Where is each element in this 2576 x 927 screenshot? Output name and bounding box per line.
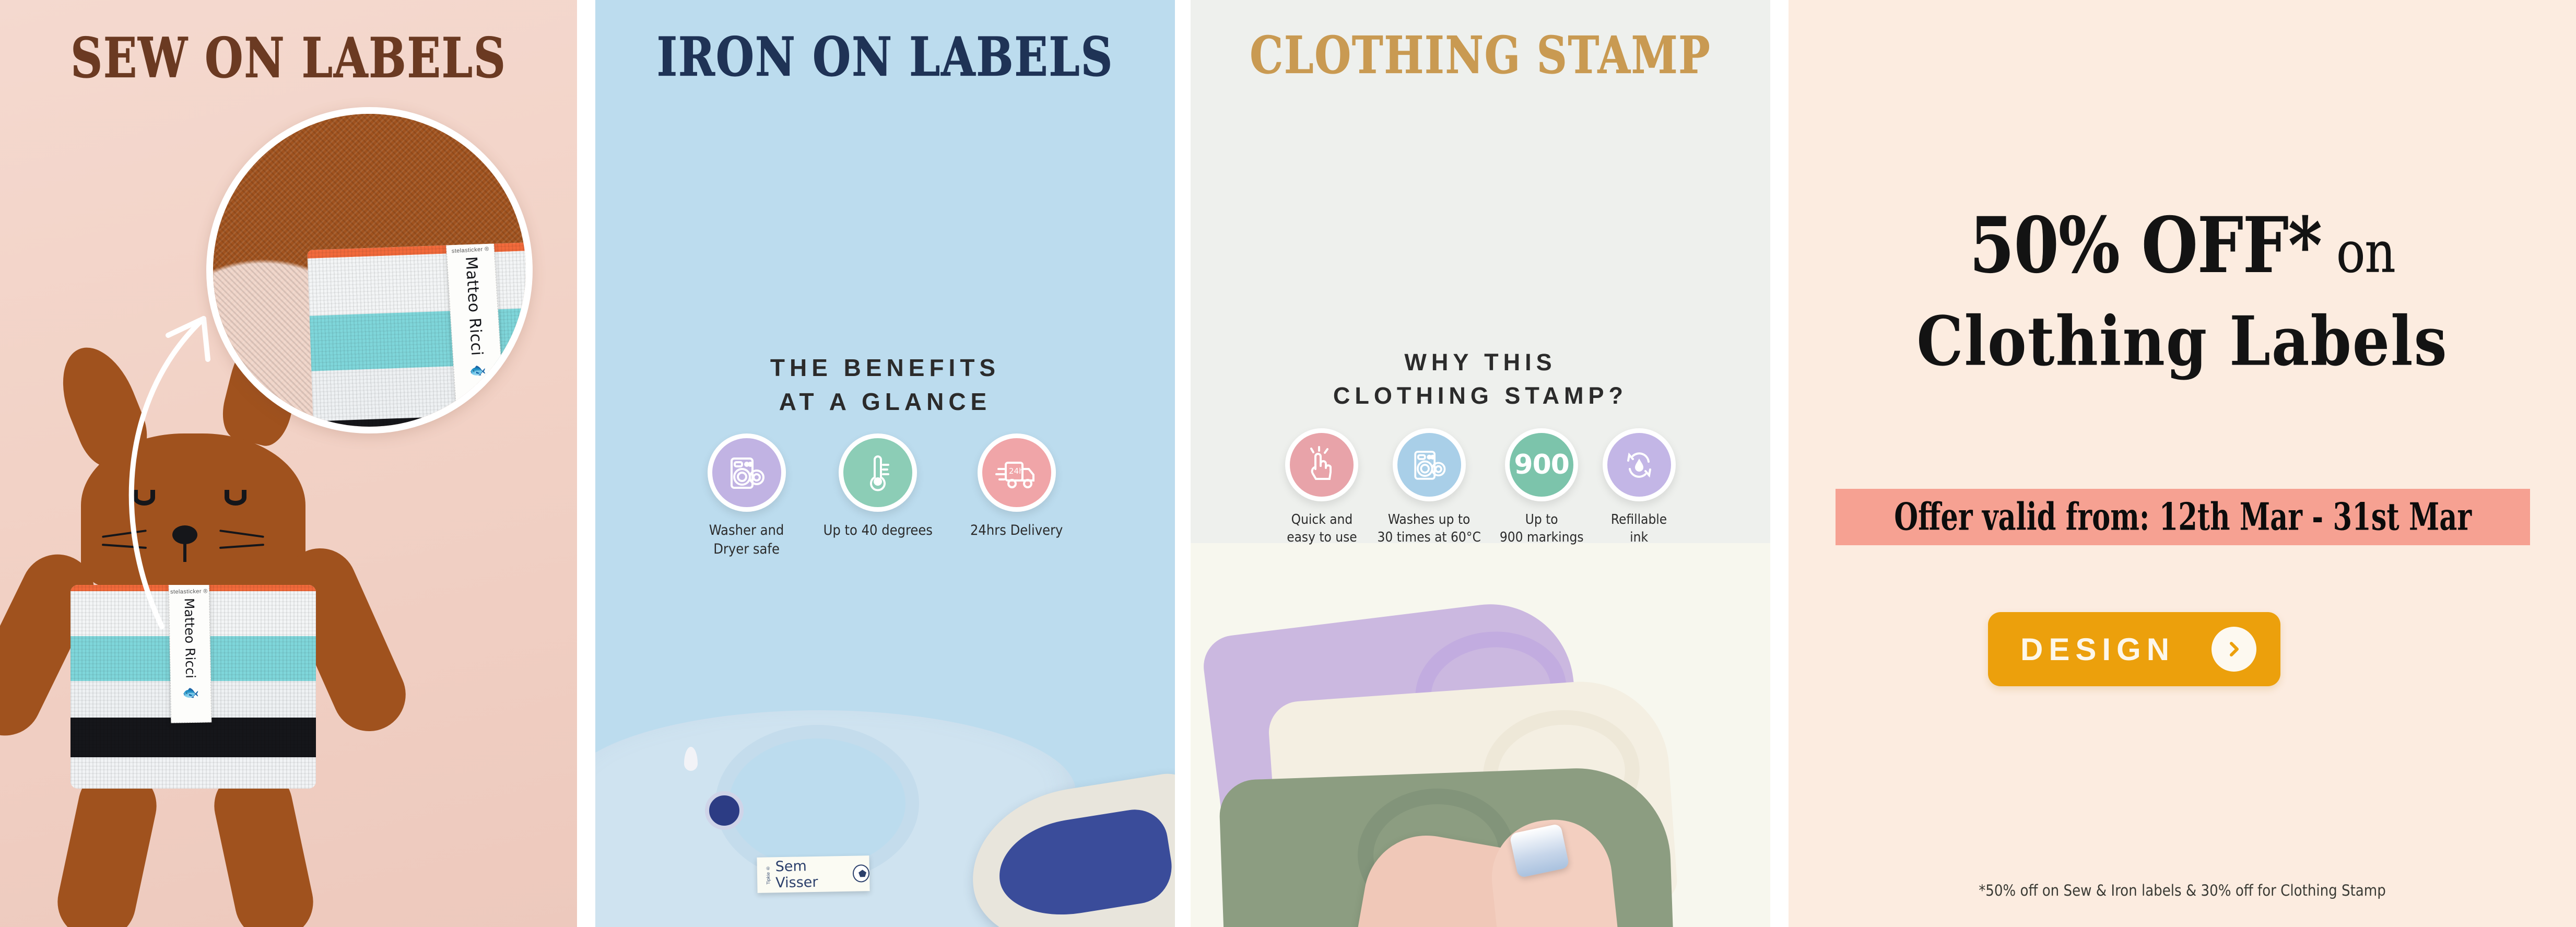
- promo-headline-line2: Clothing Labels: [1789, 302, 2576, 381]
- stamp-benefits-row: Quick and easy to use Washes up to 30 ti…: [1191, 428, 1770, 547]
- iron-on-name-label: Tipkie ® Sem Visser: [757, 855, 869, 893]
- stamp-heading-line1: WHY THIS: [1191, 346, 1770, 379]
- benefit-delivery: 24h 24hrs Delivery: [970, 433, 1063, 540]
- panel-title-clothing-stamp: CLOTHING STAMP: [1191, 25, 1770, 85]
- benefit-temperature: Up to 40 degrees: [824, 433, 933, 540]
- washing-machine-icon: [1393, 428, 1466, 501]
- plush-head: [81, 433, 305, 590]
- plush-striped-body: stelasticker ® Matteo Ricci 🐟: [70, 585, 316, 789]
- panel-sew-on-labels: stelasticker ® Matteo Ricci 🐟: [0, 0, 577, 927]
- promo-discount-value: 50% OFF*: [1969, 201, 2321, 290]
- design-button-label: DESIGN: [2020, 631, 2175, 667]
- fish-icon: 🐟: [182, 685, 199, 701]
- thermometer-icon: [839, 433, 917, 512]
- label-brand-text: Tipkie ®: [766, 865, 771, 884]
- promo-banner: stelasticker ® Matteo Ricci 🐟: [0, 0, 2576, 927]
- label-name-text: Matteo Ricci: [182, 598, 198, 678]
- promo-headline-suffix: on: [2322, 219, 2395, 285]
- refill-ink-icon: [1603, 428, 1676, 501]
- label-zoom-inset: stelasticker ® Matteo Ricci 🐟: [206, 107, 533, 433]
- sew-on-name-label: stelasticker ® Matteo Ricci 🐟: [446, 240, 504, 409]
- washing-machine-icon: [708, 433, 786, 512]
- benefit-caption: Up to 40 degrees: [824, 521, 933, 540]
- benefit-caption: 24hrs Delivery: [970, 521, 1063, 540]
- clothing-stamp-photo: Emma 0123456789 ☆ Charlie 0123456789 🚜: [1191, 601, 1770, 927]
- label-name-text: Sem Visser: [775, 858, 848, 891]
- benefit-quick-easy: Quick and easy to use: [1285, 428, 1358, 547]
- benefit-washer-dryer: Washer and Dryer safe: [708, 433, 786, 558]
- offer-validity-banner: Offer valid from: 12th Mar - 31st Mar: [1836, 489, 2530, 545]
- number-badge-icon: 900: [1505, 428, 1578, 501]
- label-name-text: Matteo Ricci: [462, 256, 486, 356]
- stamp-heading-line2: CLOTHING STAMP?: [1191, 379, 1770, 413]
- delivery-truck-icon: 24h: [978, 433, 1056, 512]
- label-brand-text: stelasticker ®: [452, 246, 489, 254]
- tapping-hand-icon: [1285, 428, 1358, 501]
- iron-on-product-photo: Tipkie ® Sem Visser: [595, 700, 1175, 927]
- stamp-heading: WHY THIS CLOTHING STAMP?: [1191, 346, 1770, 413]
- fish-icon: 🐟: [469, 361, 487, 379]
- benefits-heading-line1: THE BENEFITS: [595, 351, 1175, 385]
- benefit-caption: Washer and Dryer safe: [709, 521, 784, 558]
- design-button[interactable]: DESIGN: [1988, 612, 2280, 686]
- sew-on-name-label-2: stelasticker ® Matteo Ricci 🐟: [169, 585, 212, 723]
- marking-count-value: 900: [1514, 449, 1569, 480]
- plush-nose: [172, 525, 197, 544]
- panel-title-iron-on: IRON ON LABELS: [595, 25, 1175, 88]
- plush-eye-right: [225, 490, 246, 506]
- sew-on-artwork: stelasticker ® Matteo Ricci 🐟: [0, 0, 577, 927]
- svg-text:24h: 24h: [1009, 466, 1024, 476]
- iron-dial-button: [705, 791, 744, 830]
- benefit-wash-resistance: Washes up to 30 times at 60°C: [1377, 428, 1480, 547]
- benefit-caption: Washes up to 30 times at 60°C: [1377, 511, 1480, 547]
- benefits-heading: THE BENEFITS AT A GLANCE: [595, 351, 1175, 419]
- panel-promo-offer: 50% OFF* on Clothing Labels Offer valid …: [1789, 0, 2576, 927]
- promo-footnote: *50% off on Sew & Iron labels & 30% off …: [1789, 882, 2576, 899]
- benefit-caption: Up to 900 markings: [1500, 511, 1584, 547]
- benefit-caption: Refillable ink: [1611, 511, 1667, 547]
- plush-eye-left: [133, 490, 155, 506]
- label-brand-text: stelasticker ®: [170, 588, 208, 595]
- benefit-marking-count: 900 Up to 900 markings: [1500, 428, 1584, 547]
- offer-validity-text: Offer valid from: 12th Mar - 31st Mar: [1894, 495, 2472, 539]
- benefit-caption: Quick and easy to use: [1287, 511, 1357, 547]
- chevron-right-icon: [2212, 627, 2256, 672]
- striped-knit-panel: stelasticker ® Matteo Ricci 🐟: [307, 239, 533, 433]
- soccer-ball-icon: [853, 864, 869, 883]
- panel-iron-on-labels: IRON ON LABELS THE BENEFITS AT A GLANCE …: [595, 0, 1175, 927]
- panel-title-sew-on: SEW ON LABELS: [6, 26, 571, 90]
- panel-clothing-stamp: CLOTHING STAMP WHY THIS CLOTHING STAMP? …: [1191, 0, 1770, 927]
- benefit-refillable-ink: Refillable ink: [1603, 428, 1676, 547]
- iron-benefits-row: Washer and Dryer safe Up to 40 degrees: [595, 433, 1175, 558]
- promo-headline-line1: 50% OFF* on: [1789, 201, 2576, 290]
- benefits-heading-line2: AT A GLANCE: [595, 385, 1175, 419]
